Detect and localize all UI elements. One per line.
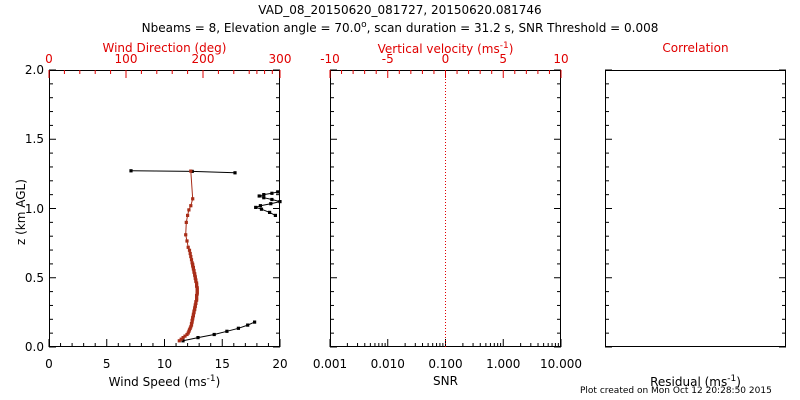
- x-tick-label-bottom: 0.010: [358, 357, 418, 371]
- x-tick-label-bottom: 15: [192, 357, 252, 371]
- x-tick-label-bottom: 10.000: [531, 357, 591, 371]
- x-tick-label-top: 100: [96, 52, 156, 66]
- x-tick-label-bottom: 0: [19, 357, 79, 371]
- y-tick-label: 0.5: [8, 271, 44, 285]
- x-tick-label-top: 200: [173, 52, 233, 66]
- x-tick-label-top: -5: [358, 52, 418, 66]
- x-tick-label-top: 5: [473, 52, 533, 66]
- x-tick-label-bottom: 0.100: [416, 357, 476, 371]
- x-tick-label-top: 10: [531, 52, 591, 66]
- x-tick-label-bottom: 0.001: [300, 357, 360, 371]
- x-tick-label-bottom: 5: [77, 357, 137, 371]
- y-tick-label: 0.0: [8, 340, 44, 354]
- x-tick-label-top: 0: [19, 52, 79, 66]
- y-tick-label: 1.5: [8, 132, 44, 146]
- figure-root: VAD_08_20150620_081727, 20150620.081746 …: [0, 0, 800, 400]
- y-tick-label: 1.0: [8, 202, 44, 216]
- x-tick-label-top: -10: [300, 52, 360, 66]
- x-tick-label-bottom: 1.000: [473, 357, 533, 371]
- x-tick-label-top: 0: [416, 52, 476, 66]
- x-tick-label-bottom: 10: [135, 357, 195, 371]
